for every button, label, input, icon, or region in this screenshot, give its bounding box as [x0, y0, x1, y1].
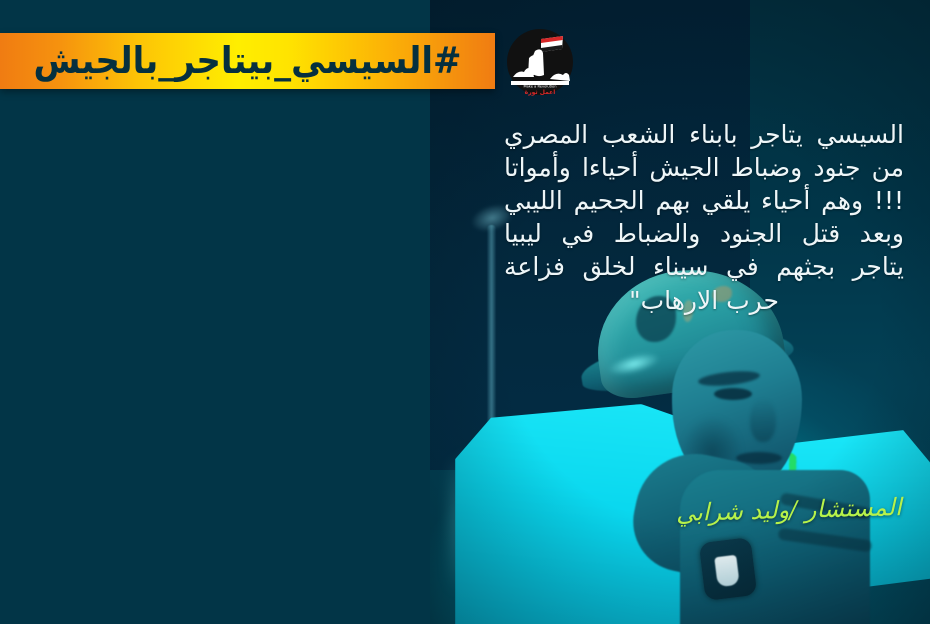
main-paragraph: السيسي يتاجر بابناء الشعب المصري من جنود…	[504, 118, 904, 317]
poster-canvas: #السيسي_بيتاجر_بالجيش Make a Revolution …	[0, 0, 930, 624]
hashtag-text: #السيسي_بيتاجر_بالجيش	[33, 43, 461, 80]
main-paragraph-body: السيسي يتاجر بابناء الشعب المصري من جنود…	[504, 120, 904, 281]
soldier-eye	[714, 388, 752, 400]
uniform-patch-highlight	[714, 555, 739, 587]
main-paragraph-closing: حرب الارهاب"	[504, 284, 904, 317]
hashtag-banner: #السيسي_بيتاجر_بالجيش	[0, 33, 495, 89]
svg-text:اعمل ثورة: اعمل ثورة	[525, 89, 556, 96]
author-signature: المستشار /وليد شرابي	[676, 493, 902, 527]
make-a-revolution-logo: Make a Revolution اعمل ثورة	[505, 27, 575, 97]
svg-text:Make a Revolution: Make a Revolution	[524, 85, 557, 89]
soldier-nose	[750, 398, 776, 442]
soldier-mouth	[736, 452, 782, 464]
